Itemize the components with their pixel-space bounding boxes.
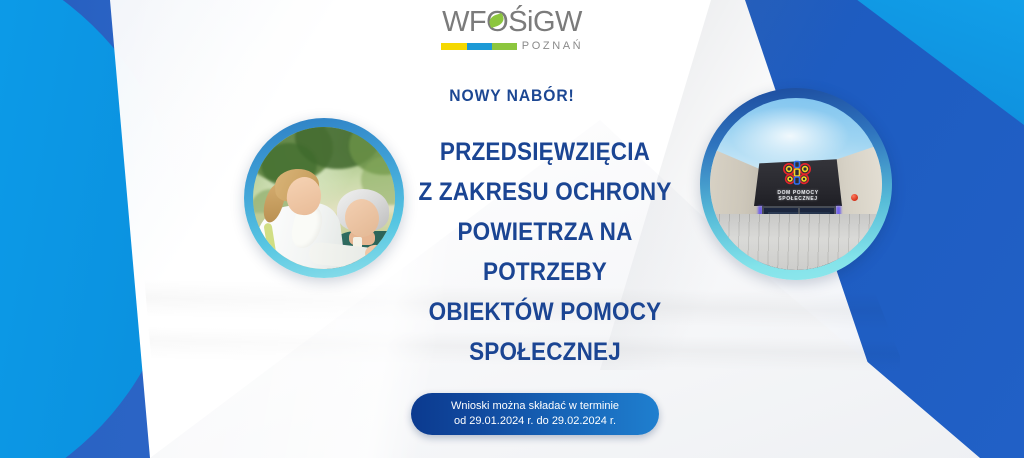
logo-subline: POZNAŃ bbox=[422, 40, 602, 52]
photo-care-home-entrance-image: DOM POMOCY SPOŁECZNEJ bbox=[710, 98, 882, 270]
logo-bar-green bbox=[492, 43, 517, 50]
wall-red-lamp-icon bbox=[851, 194, 858, 201]
logo-wordmark-suffix: ŚiGW bbox=[508, 6, 582, 38]
headline-line-2: Z ZAKRESU OCHRONY bbox=[397, 172, 694, 212]
application-period-badge: Wnioski można składać w terminie od 29.0… bbox=[411, 393, 659, 435]
sky-glow bbox=[730, 106, 850, 166]
headline-line-1: PRZEDSIĘWZIĘCIA bbox=[397, 132, 694, 172]
logo-city-label: POZNAŃ bbox=[522, 40, 583, 52]
logo-color-bars bbox=[441, 43, 517, 50]
wfosigw-logo: WFOŚiGW POZNAŃ bbox=[422, 8, 602, 52]
logo-o-letter: O bbox=[486, 8, 508, 37]
entrance-pavement bbox=[710, 214, 882, 270]
logo-bar-yellow bbox=[441, 43, 467, 50]
care-home-sign-text: DOM POMOCY SPOŁECZNEJ bbox=[758, 190, 838, 202]
photo-care-home-entrance: DOM POMOCY SPOŁECZNEJ bbox=[700, 88, 892, 280]
application-period-line-1: Wnioski można składać w terminie bbox=[451, 399, 619, 414]
headline-line-4: OBIEKTÓW POMOCY bbox=[397, 292, 694, 332]
application-period-line-2: od 29.01.2024 r. do 29.02.2024 r. bbox=[454, 414, 616, 429]
photo-caregiver-and-senior bbox=[244, 118, 404, 278]
photo-caregiver-and-senior-image bbox=[253, 127, 395, 269]
headline-line-5: SPOŁECZNEJ bbox=[397, 332, 694, 372]
logo-wordmark: WFOŚiGW bbox=[442, 8, 582, 37]
logo-bar-blue bbox=[467, 43, 492, 50]
care-home-butterfly-logo-icon bbox=[780, 160, 814, 186]
promo-banner: WFOŚiGW POZNAŃ NOWY NABÓR! PRZEDSIĘWZIĘC… bbox=[0, 0, 1024, 458]
headline: PRZEDSIĘWZIĘCIA Z ZAKRESU OCHRONY POWIET… bbox=[380, 132, 710, 372]
logo-wordmark-prefix: WF bbox=[442, 6, 486, 38]
headline-line-3: POWIETRZA NA POTRZEBY bbox=[397, 212, 694, 292]
